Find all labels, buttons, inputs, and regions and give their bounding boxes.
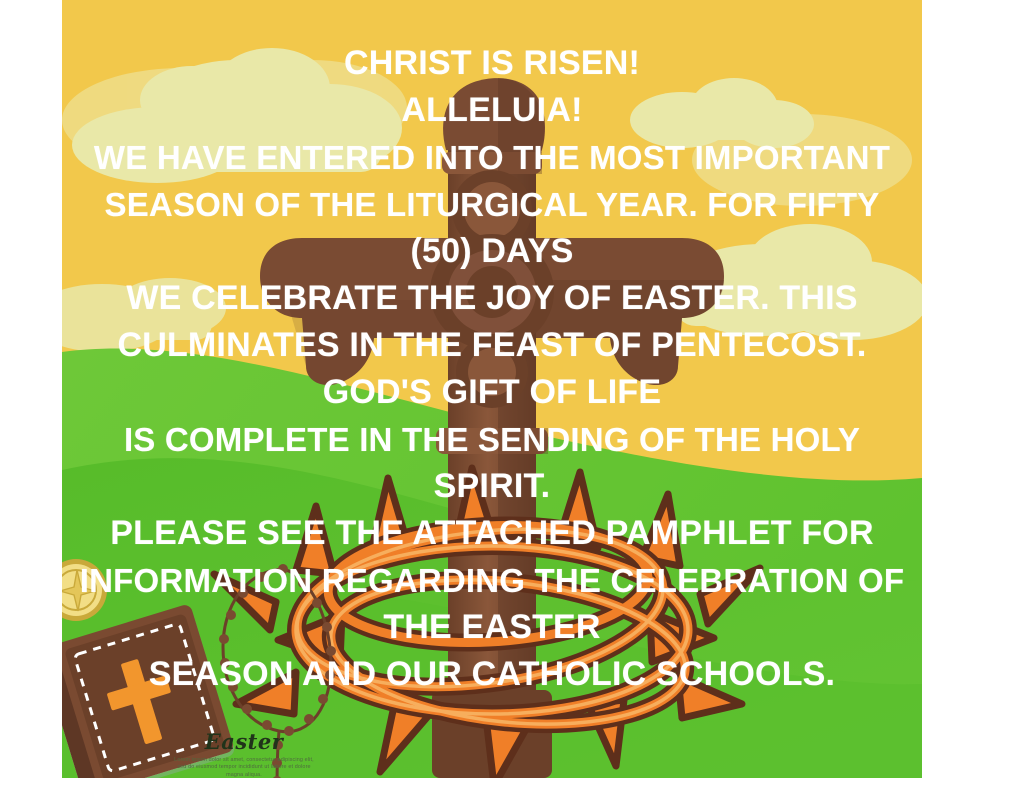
- illustration-artboard: [62, 0, 922, 778]
- cross-top-collar-shade: [498, 152, 542, 174]
- poster-canvas: CHRIST IS RISEN! ALLELUIA! WE HAVE ENTER…: [0, 0, 1024, 791]
- rosary-drop-cord: [277, 731, 279, 778]
- cross-foot-collar-shade: [498, 428, 548, 454]
